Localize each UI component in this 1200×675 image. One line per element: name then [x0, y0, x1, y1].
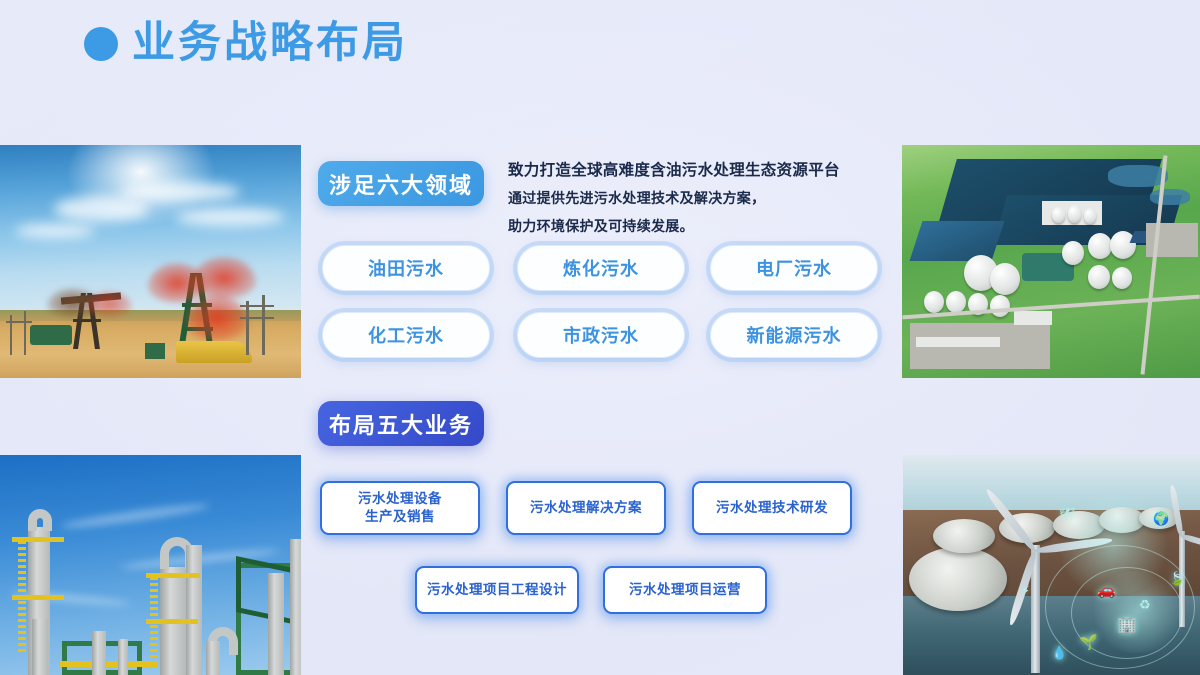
storage-tank	[946, 291, 966, 313]
oilfield-pumpjacks-photo	[0, 145, 301, 378]
petrochemical-refinery-photo	[0, 455, 301, 675]
storage-tank	[909, 547, 1007, 611]
storage-tank	[1052, 207, 1065, 223]
ladder	[150, 577, 158, 621]
storage-tank	[1062, 241, 1084, 265]
power-pylon	[246, 301, 249, 355]
page-title: 业务战略布局	[132, 22, 408, 65]
storage-tank	[1084, 208, 1096, 224]
storage-tank	[990, 263, 1020, 295]
vessel	[118, 639, 128, 675]
intro-line-1: 致力打造全球高难度含油污水处理生态资源平台	[508, 158, 903, 184]
storage-tank	[1068, 205, 1081, 223]
business-box-line-2: 生产及销售	[365, 509, 435, 524]
business-box-line-1: 污水处理技术研发	[716, 499, 828, 517]
power-line	[6, 321, 32, 323]
intro-paragraph: 致力打造全球高难度含油污水处理生态资源平台 通过提供先进污水处理技术及解决方案，…	[508, 158, 903, 240]
vessel	[268, 573, 284, 675]
pumpjack-motion-blur	[186, 295, 248, 341]
business-box-project-operation[interactable]: 污水处理项目运营	[603, 566, 767, 614]
wind-turbine-eco-tech-photo: ♻ 🏢 🌱 💧 🚗 🍃 ⚡ 🌍 🕊	[903, 455, 1200, 675]
page-header: 业务战略布局	[84, 22, 408, 65]
business-box-equipment[interactable]: 污水处理设备 生产及销售	[320, 481, 480, 535]
pump-base	[176, 341, 252, 363]
riser-pipe	[186, 545, 202, 675]
business-box-line-1: 污水处理解决方案	[530, 499, 642, 517]
bird-icon: 🕊	[1059, 507, 1076, 523]
recycle-icon: ♻	[1139, 597, 1151, 613]
storage-tank	[933, 519, 995, 553]
vessel	[206, 641, 220, 675]
equipment-box	[30, 325, 72, 345]
pond	[1150, 189, 1190, 205]
power-line	[240, 317, 274, 319]
power-line	[240, 305, 274, 307]
domain-pill-oilfield[interactable]: 油田污水	[322, 245, 490, 291]
business-box-engineering-design[interactable]: 污水处理项目工程设计	[415, 566, 579, 614]
circle-bullet-icon	[84, 27, 118, 61]
tower-base	[32, 619, 48, 675]
business-box-line-1: 污水处理设备	[358, 491, 442, 506]
facility-building	[916, 337, 1000, 347]
storage-tank	[1112, 267, 1132, 289]
droplet-icon: 💧	[1051, 645, 1067, 661]
badge-five-businesses: 布局五大业务	[318, 401, 484, 446]
solar-array	[910, 221, 1005, 261]
power-pylon	[24, 311, 26, 355]
slide-root: 业务战略布局	[0, 0, 1200, 675]
business-box-line-1: 污水处理项目工程设计	[427, 581, 567, 599]
pumpjack-motion-blur	[192, 257, 256, 299]
storage-tank	[1088, 233, 1112, 259]
storage-tank	[1088, 265, 1110, 289]
ladder	[18, 601, 26, 655]
building-icon: 🏢	[1117, 615, 1137, 635]
badge-six-domains: 涉足六大领域	[318, 161, 484, 206]
intro-line-2: 通过提供先进污水处理技术及解决方案，	[508, 184, 903, 212]
domain-pill-newenergy[interactable]: 新能源污水	[710, 312, 878, 358]
vessel	[290, 539, 301, 675]
business-box-solutions[interactable]: 污水处理解决方案	[506, 481, 666, 535]
power-pylon	[262, 295, 265, 355]
power-tower-icon: ⚡	[1021, 583, 1030, 599]
platform	[12, 595, 64, 600]
pond	[1108, 165, 1168, 187]
storage-tank	[924, 291, 944, 313]
platform	[60, 661, 158, 667]
storage-tank	[990, 295, 1010, 317]
intro-line-3: 助力环境保护及可持续发展。	[508, 212, 903, 240]
eco-overlay-ring	[1045, 545, 1195, 669]
business-box-line-1: 污水处理项目运营	[629, 581, 741, 599]
domain-pill-powerplant[interactable]: 电厂污水	[710, 245, 878, 291]
aerial-treatment-plant-photo	[902, 145, 1200, 378]
globe-icon: 🌍	[1153, 511, 1169, 527]
domain-pill-chemical[interactable]: 化工污水	[322, 312, 490, 358]
ladder	[18, 541, 26, 595]
equipment-box	[145, 343, 165, 359]
domain-pill-municipal[interactable]: 市政污水	[517, 312, 685, 358]
leaf-icon: 🍃	[1169, 571, 1185, 587]
business-box-rnd[interactable]: 污水处理技术研发	[692, 481, 852, 535]
pipe-bend	[28, 509, 52, 531]
vessel	[92, 631, 106, 675]
electric-car-icon: 🚗	[1097, 581, 1116, 599]
facility-building	[1014, 311, 1052, 325]
leaf-hand-icon: 🌱	[1079, 633, 1098, 651]
domain-pill-refining[interactable]: 炼化污水	[517, 245, 685, 291]
pumpjack-motion-blur	[86, 291, 132, 317]
cloud	[175, 208, 285, 226]
